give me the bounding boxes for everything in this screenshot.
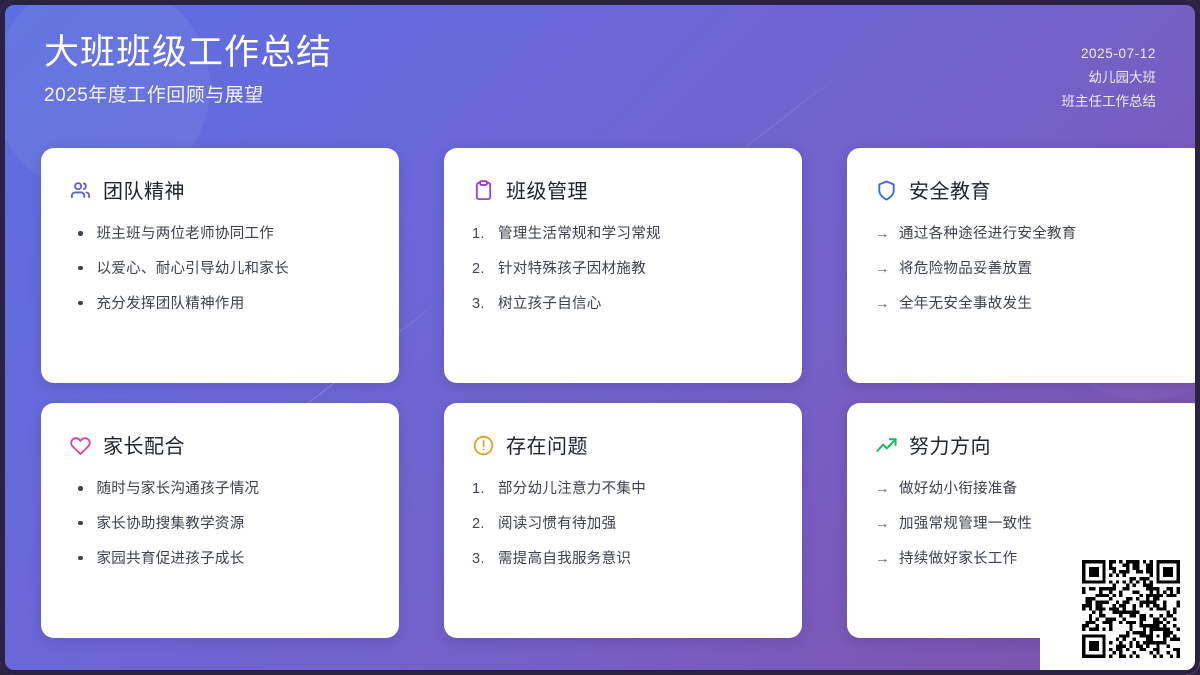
page-subtitle: 2025年度工作回顾与展望	[44, 80, 332, 107]
card-title: 班级管理	[506, 175, 588, 205]
list-item: →通过各种途径进行安全教育	[875, 224, 1177, 246]
card-header: 安全教育	[875, 175, 1177, 205]
card-title: 团队精神	[103, 175, 185, 205]
list-marker-bullet	[78, 521, 83, 526]
card-3: 安全教育→通过各种途径进行安全教育→将危险物品妥善放置→全年无安全事故发生	[847, 148, 1200, 383]
qr-code[interactable]	[1082, 560, 1180, 658]
card-4: 家长配合随时与家长沟通孩子情况家长协助搜集教学资源家园共育促进孩子成长	[41, 403, 399, 638]
list-item: 家长协助搜集教学资源	[69, 514, 371, 536]
card-list: 1.管理生活常规和学习常规2.针对特殊孩子因材施教3.树立孩子自信心	[472, 224, 774, 315]
list-item-text: 家长协助搜集教学资源	[97, 514, 245, 536]
list-item-text: 加强常规管理一致性	[899, 514, 1032, 536]
heart-icon	[69, 434, 92, 457]
list-marker-number: 1.	[472, 224, 489, 246]
list-item-text: 通过各种途径进行安全教育	[899, 224, 1077, 246]
slide-root: 大班班级工作总结 2025年度工作回顾与展望 2025-07-12 幼儿园大班 …	[0, 0, 1200, 675]
list-item-text: 做好幼小衔接准备	[899, 479, 1017, 501]
meta-doc-type: 班主任工作总结	[1062, 90, 1157, 114]
list-item: →做好幼小衔接准备	[875, 479, 1177, 501]
list-marker-bullet	[78, 486, 83, 491]
card-title: 存在问题	[506, 430, 588, 460]
list-item: 以爱心、耐心引导幼儿和家长	[69, 259, 371, 281]
card-list: 班主班与两位老师协同工作以爱心、耐心引导幼儿和家长充分发挥团队精神作用	[69, 224, 371, 315]
list-item-text: 以爱心、耐心引导幼儿和家长	[97, 259, 289, 281]
list-item: →全年无安全事故发生	[875, 294, 1177, 316]
card-grid: 团队精神班主班与两位老师协同工作以爱心、耐心引导幼儿和家长充分发挥团队精神作用班…	[41, 148, 1159, 638]
list-item: 2.针对特殊孩子因材施教	[472, 259, 774, 281]
list-marker-number: 2.	[472, 514, 489, 536]
list-item: 随时与家长沟通孩子情况	[69, 479, 371, 501]
arrow-icon: →	[875, 224, 890, 246]
list-marker-number: 2.	[472, 259, 489, 281]
clipboard-icon	[472, 179, 495, 202]
arrow-icon: →	[875, 259, 890, 281]
list-item: →将危险物品妥善放置	[875, 259, 1177, 281]
list-item-text: 针对特殊孩子因材施教	[498, 259, 646, 281]
list-item-text: 管理生活常规和学习常规	[498, 224, 661, 246]
list-item-text: 随时与家长沟通孩子情况	[97, 479, 260, 501]
card-2: 班级管理1.管理生活常规和学习常规2.针对特殊孩子因材施教3.树立孩子自信心	[444, 148, 802, 383]
card-5: 存在问题1.部分幼儿注意力不集中2.阅读习惯有待加强3.需提高自我服务意识	[444, 403, 802, 638]
list-marker-bullet	[78, 231, 83, 236]
list-item: 班主班与两位老师协同工作	[69, 224, 371, 246]
arrow-icon: →	[875, 294, 890, 316]
qr-panel	[1040, 530, 1200, 675]
meta-class: 幼儿园大班	[1062, 66, 1157, 90]
arrow-icon: →	[875, 514, 890, 536]
list-marker-number: 3.	[472, 294, 489, 316]
arrow-icon: →	[875, 549, 890, 571]
card-header: 团队精神	[69, 175, 371, 205]
alert-circle-icon	[472, 434, 495, 457]
card-header: 努力方向	[875, 430, 1177, 460]
card-title: 努力方向	[909, 430, 991, 460]
card-title: 家长配合	[103, 430, 185, 460]
list-item-text: 家园共育促进孩子成长	[97, 549, 245, 571]
list-marker-number: 1.	[472, 479, 489, 501]
list-item-text: 树立孩子自信心	[498, 294, 602, 316]
list-item-text: 充分发挥团队精神作用	[97, 294, 245, 316]
card-list: 随时与家长沟通孩子情况家长协助搜集教学资源家园共育促进孩子成长	[69, 479, 371, 570]
list-item-text: 持续做好家长工作	[899, 549, 1017, 571]
shield-icon	[875, 179, 898, 202]
meta-date: 2025-07-12	[1062, 42, 1157, 66]
list-item-text: 阅读习惯有待加强	[498, 514, 616, 536]
header-title-group: 大班班级工作总结 2025年度工作回顾与展望	[44, 33, 332, 107]
list-item-text: 班主班与两位老师协同工作	[97, 224, 275, 246]
list-marker-number: 3.	[472, 549, 489, 571]
list-marker-bullet	[78, 301, 83, 306]
trending-up-icon	[875, 434, 898, 457]
card-header: 班级管理	[472, 175, 774, 205]
list-item-text: 需提高自我服务意识	[498, 549, 631, 571]
list-item: 充分发挥团队精神作用	[69, 294, 371, 316]
card-list: →通过各种途径进行安全教育→将危险物品妥善放置→全年无安全事故发生	[875, 224, 1177, 315]
list-item-text: 将危险物品妥善放置	[899, 259, 1032, 281]
card-title: 安全教育	[909, 175, 991, 205]
list-item: 家园共育促进孩子成长	[69, 549, 371, 571]
users-icon	[69, 179, 92, 202]
card-1: 团队精神班主班与两位老师协同工作以爱心、耐心引导幼儿和家长充分发挥团队精神作用	[41, 148, 399, 383]
list-item: 2.阅读习惯有待加强	[472, 514, 774, 536]
card-header: 存在问题	[472, 430, 774, 460]
list-marker-bullet	[78, 266, 83, 271]
list-item: 3.需提高自我服务意识	[472, 549, 774, 571]
list-item-text: 部分幼儿注意力不集中	[498, 479, 646, 501]
card-list: 1.部分幼儿注意力不集中2.阅读习惯有待加强3.需提高自我服务意识	[472, 479, 774, 570]
list-item-text: 全年无安全事故发生	[899, 294, 1032, 316]
header-meta: 2025-07-12 幼儿园大班 班主任工作总结	[1062, 42, 1157, 114]
card-header: 家长配合	[69, 430, 371, 460]
page-title: 大班班级工作总结	[44, 33, 332, 74]
list-item: 1.部分幼儿注意力不集中	[472, 479, 774, 501]
list-marker-bullet	[78, 556, 83, 561]
arrow-icon: →	[875, 479, 890, 501]
slide-header: 大班班级工作总结 2025年度工作回顾与展望 2025-07-12 幼儿园大班 …	[0, 0, 1200, 140]
list-item: 1.管理生活常规和学习常规	[472, 224, 774, 246]
list-item: 3.树立孩子自信心	[472, 294, 774, 316]
